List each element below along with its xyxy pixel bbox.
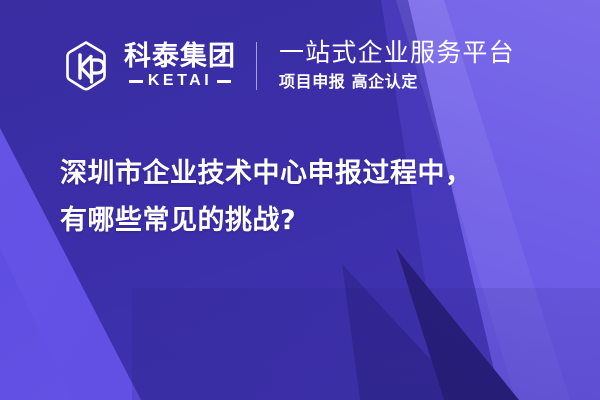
brand-logo: 科泰集团 KETAI <box>58 38 236 94</box>
dash-right-icon <box>217 80 231 83</box>
banner-header: 科泰集团 KETAI 一站式企业服务平台 项目申报 高企认定 <box>58 38 515 94</box>
promo-banner: 科泰集团 KETAI 一站式企业服务平台 项目申报 高企认定 深圳市企业技术中心… <box>0 0 600 400</box>
slogan-block: 一站式企业服务平台 项目申报 高企认定 <box>279 39 515 94</box>
headline-line-1: 深圳市企业技术中心申报过程中， <box>60 150 560 197</box>
ketai-diamond-kp-monogram-icon <box>58 38 114 94</box>
headline-line-2: 有哪些常见的挑战? <box>60 197 560 244</box>
slogan-primary: 一站式企业服务平台 <box>279 39 515 68</box>
banner-content: 科泰集团 KETAI 一站式企业服务平台 项目申报 高企认定 深圳市企业技术中心… <box>0 0 600 400</box>
brand-name-english-row: KETAI <box>124 73 236 89</box>
brand-name-english: KETAI <box>148 73 212 89</box>
slogan-secondary: 项目申报 高企认定 <box>279 72 515 93</box>
brand-wordmark: 科泰集团 KETAI <box>124 43 236 90</box>
brand-name-chinese: 科泰集团 <box>124 43 236 72</box>
dash-left-icon <box>129 80 143 83</box>
vertical-divider <box>256 42 257 90</box>
headline: 深圳市企业技术中心申报过程中， 有哪些常见的挑战? <box>60 150 560 245</box>
